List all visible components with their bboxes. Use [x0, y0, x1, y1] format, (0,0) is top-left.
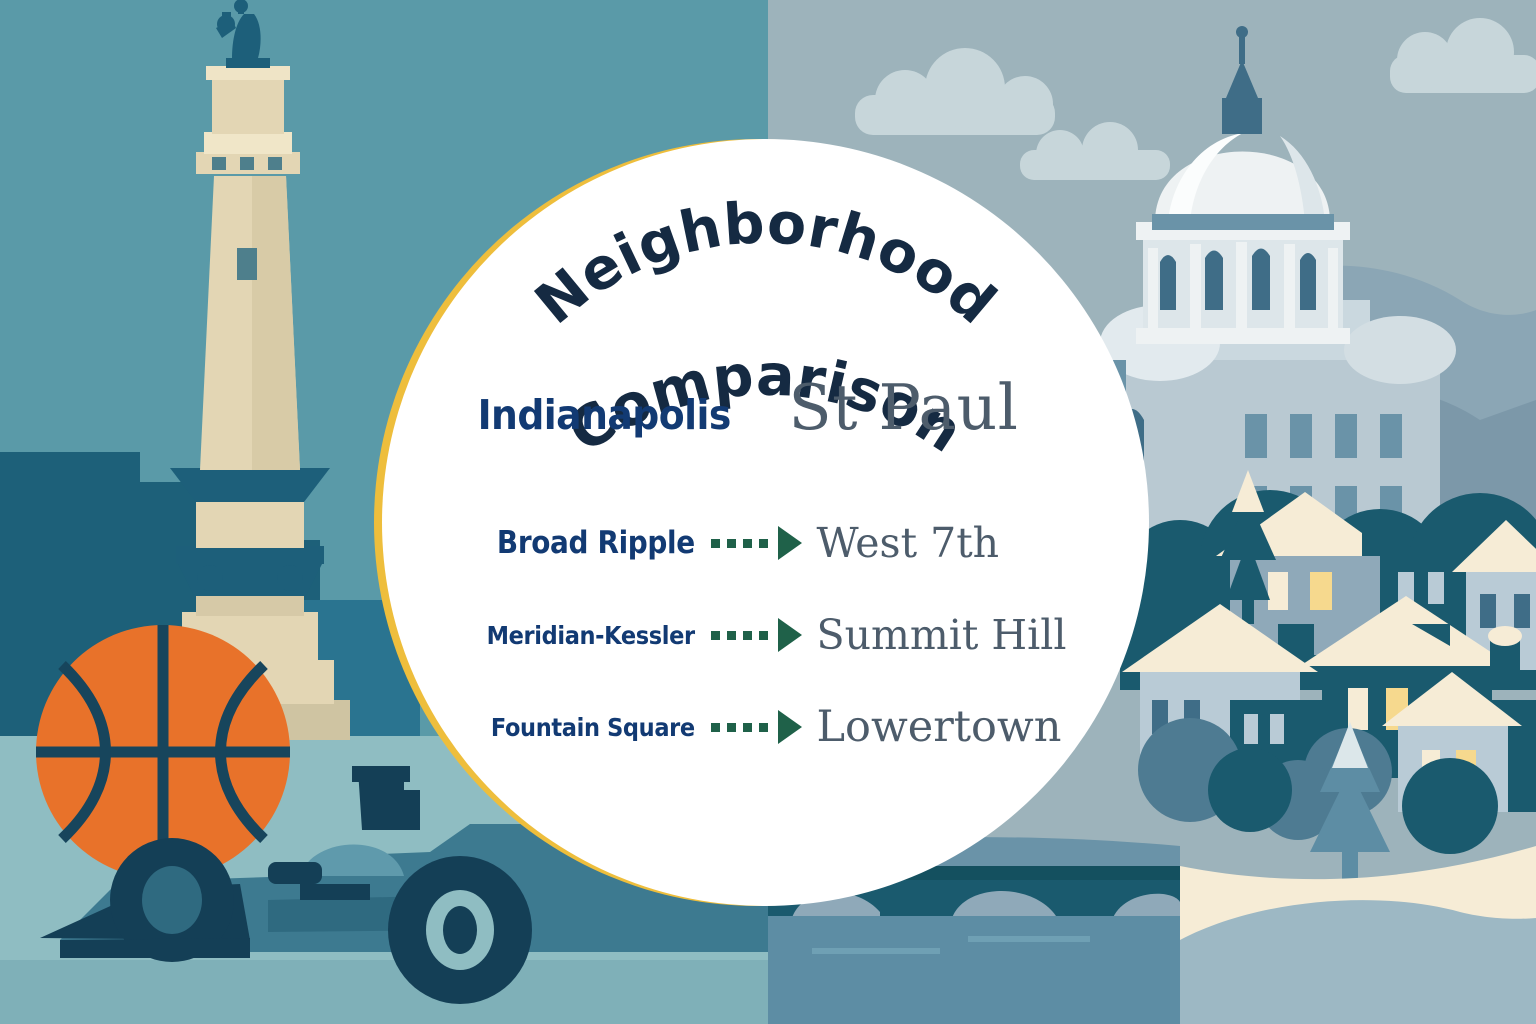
arrow-dot: [759, 723, 768, 732]
arrow-dot: [727, 539, 736, 548]
pair-row: Fountain Square Lowertown: [382, 681, 1149, 773]
dotted-arrow-icon: [711, 618, 803, 652]
arrow-dot: [743, 631, 752, 640]
arrow-dot: [727, 723, 736, 732]
arrow-head: [778, 526, 802, 560]
arrow-head: [778, 618, 802, 652]
pair-to-label: West 7th: [803, 519, 1107, 567]
pair-row: Broad Ripple West 7th: [382, 497, 1149, 589]
monument-window: [237, 248, 257, 280]
dotted-arrow-icon: [711, 526, 803, 560]
pair-to-label: Lowertown: [803, 702, 1107, 752]
arrow-dot: [743, 723, 752, 732]
comparison-panel: Indianapolis St Paul Broad Ripple West 7…: [382, 139, 1149, 906]
pair-from-label: Broad Ripple: [453, 525, 710, 561]
arrow-dot: [711, 539, 720, 548]
city-headers: Indianapolis St Paul: [382, 371, 1149, 444]
city-right-name: St Paul: [767, 371, 1119, 444]
dotted-arrow-icon: [711, 710, 803, 744]
pair-row: Meridian-Kessler Summit Hill: [382, 589, 1149, 681]
arrow-dot: [759, 539, 768, 548]
arrow-dot: [711, 723, 720, 732]
infographic-canvas: Neighborhood Comparison Indianapolis St …: [0, 0, 1536, 1024]
arrow-dot: [711, 631, 720, 640]
arrow-head: [778, 710, 802, 744]
city-left-name: Indianapolis: [427, 391, 753, 439]
arrow-dot: [759, 631, 768, 640]
neighborhood-pairs: Broad Ripple West 7th Meridian-Kessler: [382, 497, 1149, 773]
arrow-dot: [743, 539, 752, 548]
pair-to-label: Summit Hill: [803, 611, 1107, 659]
pair-from-label: Meridian-Kessler: [453, 621, 710, 650]
left-ground-shadow: [0, 960, 768, 1024]
arrow-dot: [727, 631, 736, 640]
pair-from-label: Fountain Square: [453, 713, 710, 742]
snow-drift-2: [1180, 900, 1536, 1024]
